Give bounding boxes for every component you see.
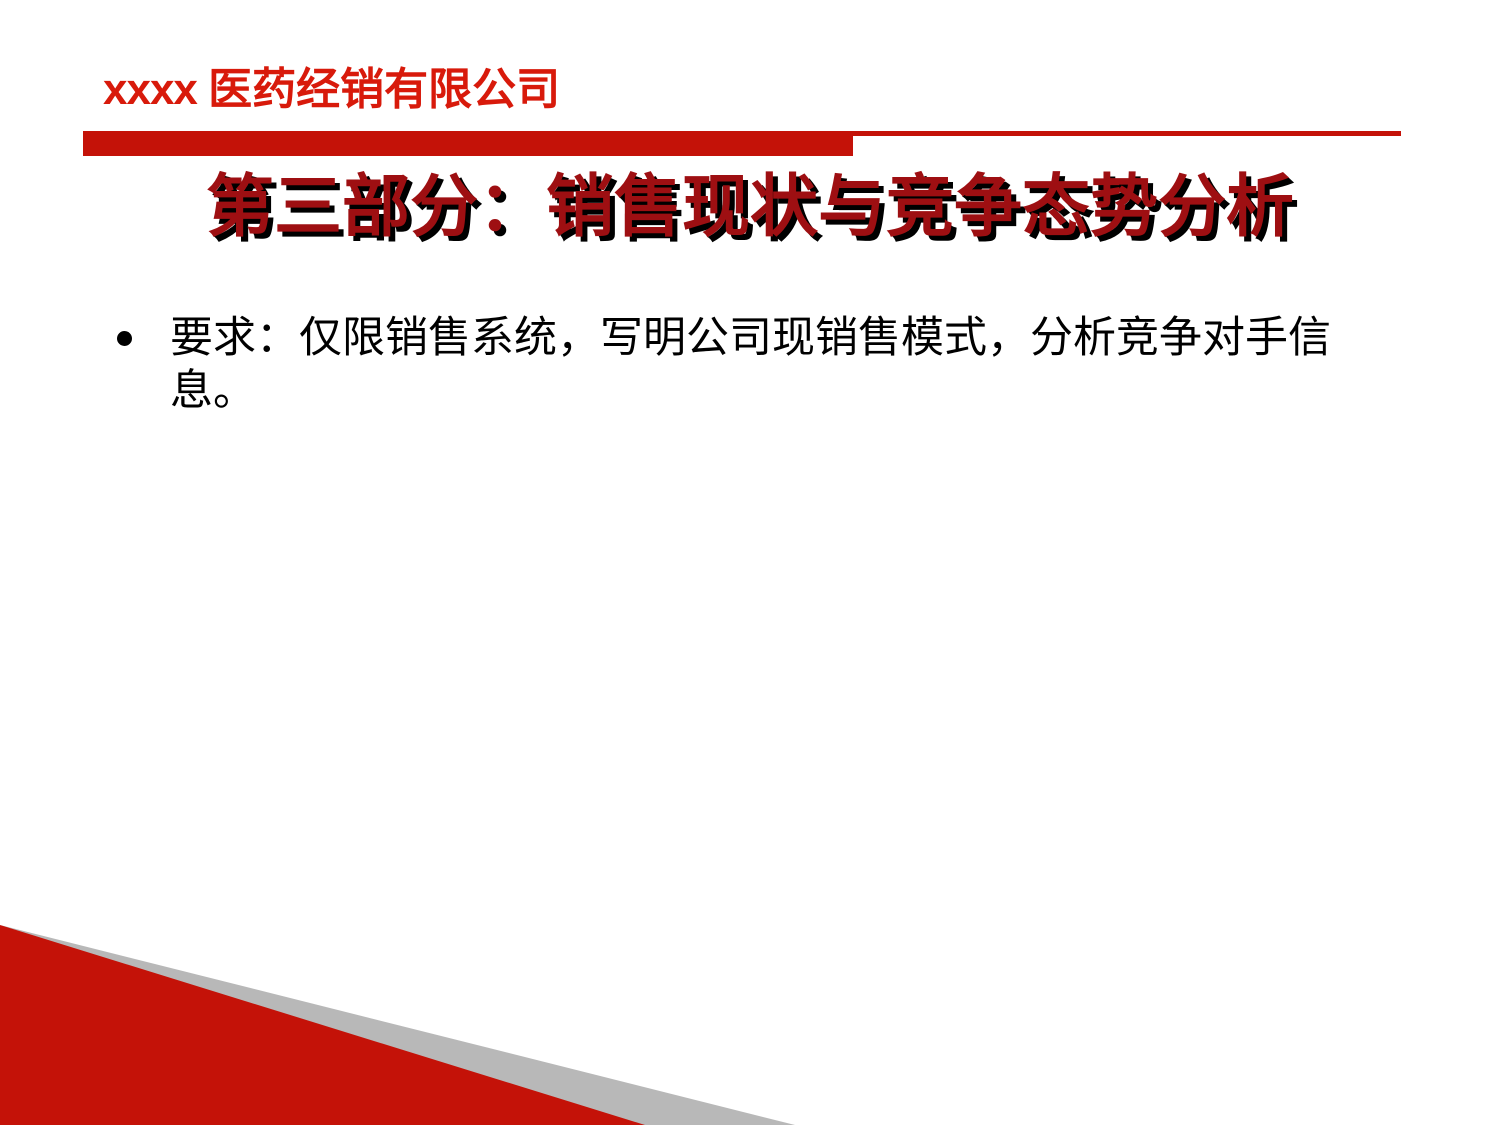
header-thick-bar [83,133,853,156]
company-name-latin-part: xxxx [103,65,208,114]
body-bullet-list: 要求：仅限销售系统，写明公司现销售模式，分析竞争对手信息。 [113,312,1403,418]
company-name-header: xxxx 医药经销有限公司 [103,68,560,112]
bullet-dot-icon [117,331,132,346]
red-triangle-shape [0,925,645,1125]
section-title: 第三部分：销售现状与竞争态势分析 [0,172,1500,243]
slide-canvas: xxxx 医药经销有限公司 第三部分：销售现状与竞争态势分析 要求：仅限销售系统… [0,0,1500,1125]
company-name-cjk-part: 医药经销有限公司 [208,64,560,115]
list-item-text: 要求：仅限销售系统，写明公司现销售模式，分析竞争对手信息。 [170,313,1331,416]
list-item: 要求：仅限销售系统，写明公司现销售模式，分析竞争对手信息。 [113,312,1403,418]
gray-triangle-shape [0,925,795,1125]
